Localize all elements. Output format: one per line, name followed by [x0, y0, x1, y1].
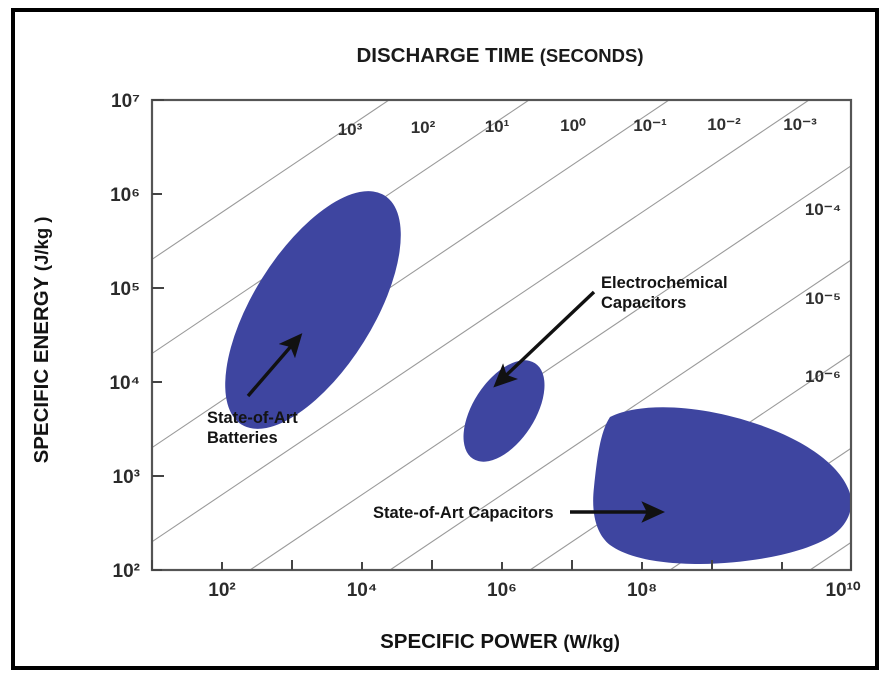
- x-tick-label-6: 10⁶: [487, 580, 517, 601]
- diagonal-label-top-6: 10⁻³: [783, 115, 817, 134]
- batteries-label-line2: Batteries: [207, 429, 278, 447]
- y-axis-title: SPECIFIC ENERGY (J/kg ): [30, 217, 53, 464]
- chart-canvas: DISCHARGE TIME (SECONDS) 10³ 10² 10¹ 10⁰…: [0, 0, 891, 678]
- diagonal-label-right-2: 10⁻⁶: [805, 367, 841, 386]
- y-tick-label-2: 10²: [113, 561, 140, 582]
- diagonal-label-top-2: 10¹: [485, 117, 510, 136]
- y-tick-label-3: 10³: [113, 467, 140, 488]
- diagonal-label-top-3: 10⁰: [560, 116, 586, 135]
- y-tick-label-group: 10⁷ 10⁶ 10⁵ 10⁴ 10³ 10²: [109, 91, 140, 582]
- diagonal-label-top-0: 10³: [338, 120, 363, 139]
- electrochemical-capacitors-label-line2: Capacitors: [601, 294, 686, 312]
- y-axis-title-paren: (J/kg ): [31, 217, 52, 271]
- x-axis-title-main: SPECIFIC POWER: [380, 630, 558, 653]
- x-tick-label-2: 10²: [208, 580, 235, 601]
- x-tick-label-8: 10⁸: [627, 580, 657, 601]
- x-tick-label-4: 10⁴: [347, 580, 378, 601]
- ragone-plot-figure: DISCHARGE TIME (SECONDS) 10³ 10² 10¹ 10⁰…: [0, 0, 891, 678]
- y-tick-label-6: 10⁶: [110, 185, 140, 206]
- y-tick-label-5: 10⁵: [110, 279, 140, 300]
- x-tick-label-group: 10² 10⁴ 10⁶ 10⁸ 10¹⁰: [208, 580, 861, 601]
- y-tick-label-4: 10⁴: [109, 373, 140, 394]
- chart-title-paren: (SECONDS): [540, 45, 644, 66]
- diagonal-label-right-1: 10⁻⁵: [805, 289, 841, 308]
- diagonal-label-top-4: 10⁻¹: [633, 116, 667, 135]
- diagonal-label-right-0: 10⁻⁴: [805, 200, 841, 219]
- diagonal-label-top-1: 10²: [411, 118, 436, 137]
- x-tick-label-10: 10¹⁰: [825, 580, 860, 601]
- state-of-art-capacitors-label: State-of-Art Capacitors: [373, 504, 554, 522]
- y-tick-label-7: 10⁷: [111, 91, 140, 112]
- y-axis-title-main: SPECIFIC ENERGY: [30, 276, 53, 463]
- electrochemical-capacitors-label-line1: Electrochemical: [601, 274, 728, 292]
- x-axis-title: SPECIFIC POWER (W/kg): [380, 630, 620, 653]
- chart-title: DISCHARGE TIME (SECONDS): [356, 44, 643, 67]
- batteries-label-line1: State-of-Art: [207, 409, 298, 427]
- diagonal-label-top-5: 10⁻²: [707, 115, 741, 134]
- x-axis-title-paren: (W/kg): [563, 631, 620, 652]
- chart-title-main: DISCHARGE TIME: [356, 44, 534, 67]
